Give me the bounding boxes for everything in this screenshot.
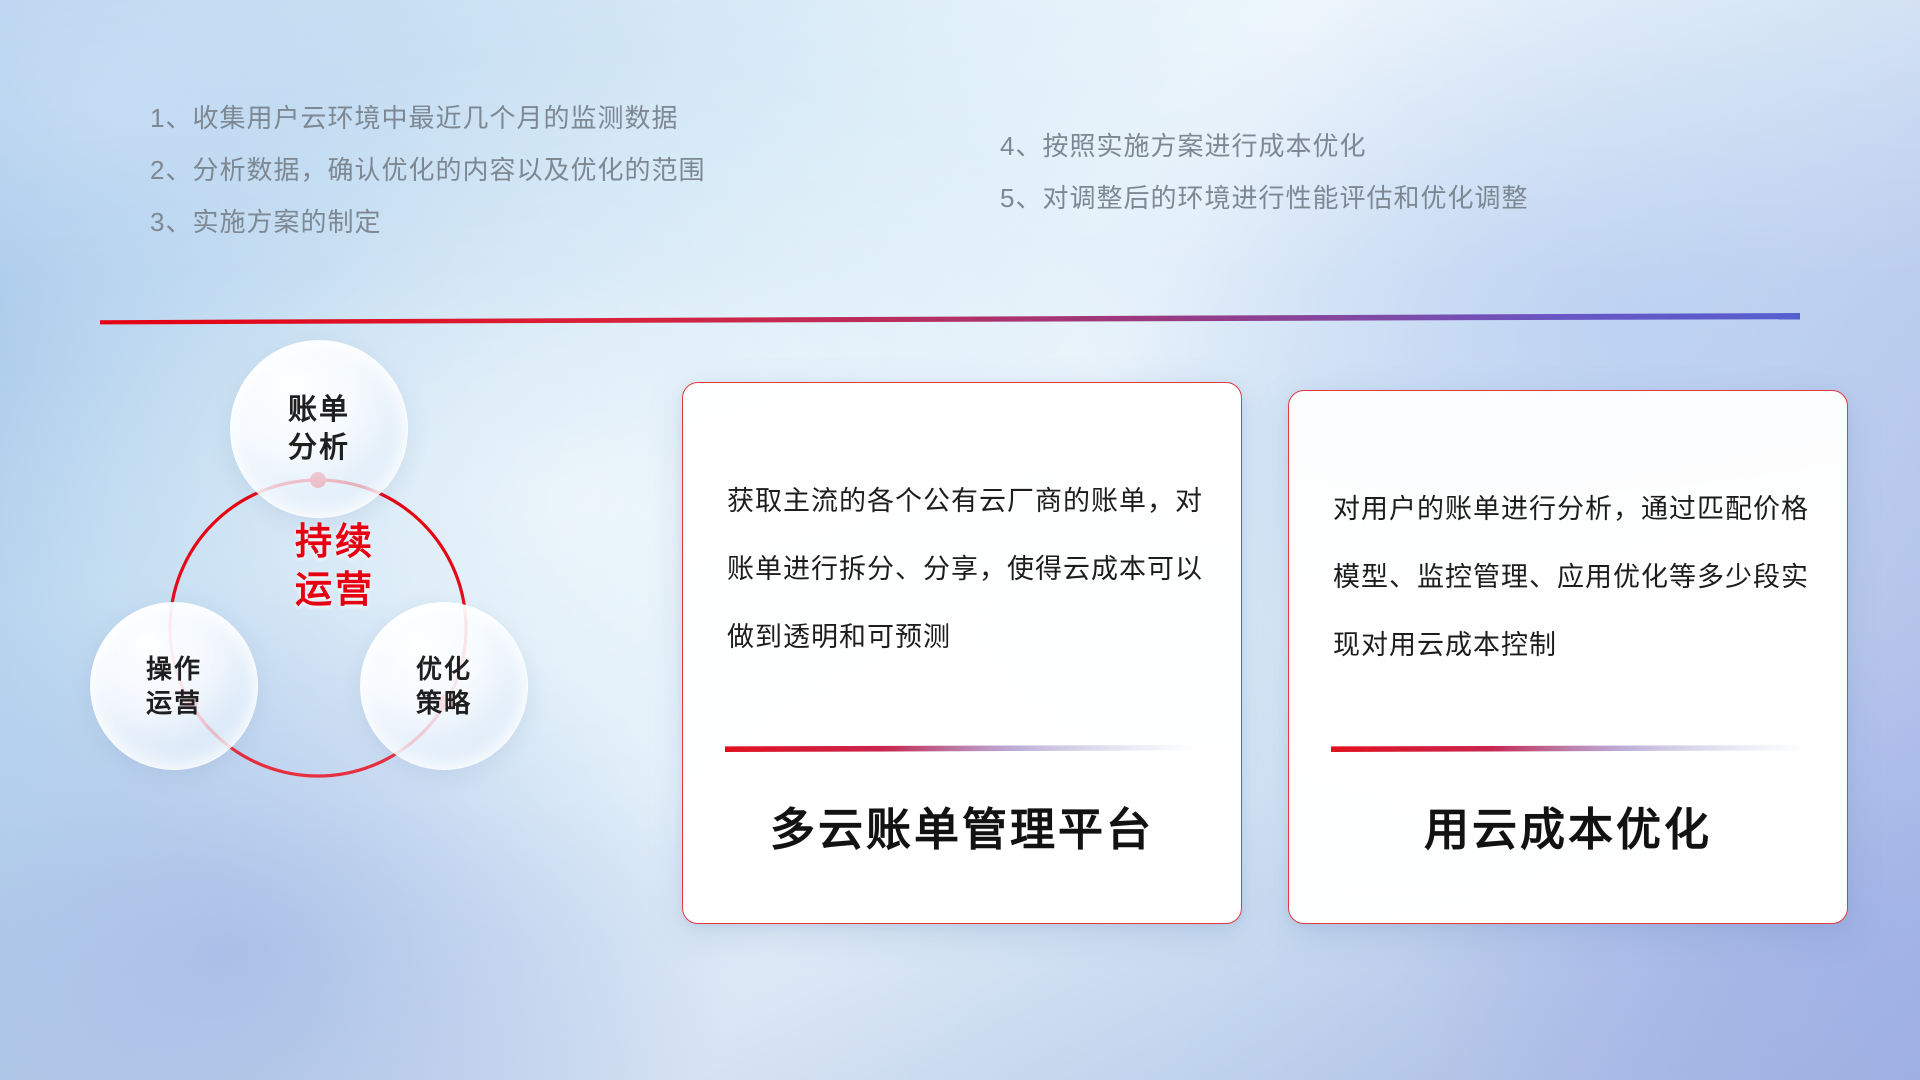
step-item-1: 1、收集用户云环境中最近几个月的监测数据 <box>150 92 705 144</box>
steps-list: 1、收集用户云环境中最近几个月的监测数据 2、分析数据，确认优化的内容以及优化的… <box>0 0 1920 270</box>
card2-title: 用云成本优化 <box>1289 793 1847 858</box>
card-cloud-cost-optimization[interactable]: 对用户的账单进行分析，通过匹配价格模型、监控管理、应用优化等多少段实现对用云成本… <box>1288 390 1848 924</box>
card1-body-text: 获取主流的各个公有云厂商的账单，对账单进行拆分、分享，使得云成本可以做到透明和可… <box>727 467 1203 671</box>
venn-node-optimize-policy[interactable]: 优化 策略 <box>360 602 528 770</box>
card2-accent-rule <box>1331 739 1805 746</box>
card1-accent-rule <box>725 739 1199 746</box>
venn-center-line2: 运营 <box>295 569 375 610</box>
continuous-operation-diagram: 账单 分析 操作 运营 优化 策略 持续 运营 <box>90 340 570 880</box>
venn-node-billing-analysis-label: 账单 分析 <box>288 391 350 468</box>
divider-line-icon <box>100 313 1800 325</box>
step-item-2: 2、分析数据，确认优化的内容以及优化的范围 <box>150 144 705 196</box>
venn-node-billing-analysis[interactable]: 账单 分析 <box>230 340 408 518</box>
venn-node-operation-ops-label: 操作 运营 <box>146 652 202 721</box>
steps-column-right: 4、按照实施方案进行成本优化 5、对调整后的环境进行性能评估和优化调整 <box>1000 120 1528 224</box>
steps-column-left: 1、收集用户云环境中最近几个月的监测数据 2、分析数据，确认优化的内容以及优化的… <box>150 92 705 248</box>
venn-label-line1: 账单 <box>288 394 350 426</box>
venn-center-line1: 持续 <box>295 521 375 562</box>
venn-node-operation-ops[interactable]: 操作 运营 <box>90 602 258 770</box>
card2-rule-icon <box>1331 745 1805 752</box>
venn-label-line2: 策略 <box>416 688 472 718</box>
venn-label-line2: 分析 <box>288 432 350 464</box>
card-multi-cloud-billing-platform[interactable]: 获取主流的各个公有云厂商的账单，对账单进行拆分、分享，使得云成本可以做到透明和可… <box>682 382 1242 924</box>
venn-label-line1: 操作 <box>146 654 202 684</box>
step-item-3: 3、实施方案的制定 <box>150 196 705 248</box>
venn-node-optimize-policy-label: 优化 策略 <box>416 652 472 721</box>
step-item-5: 5、对调整后的环境进行性能评估和优化调整 <box>1000 172 1528 224</box>
venn-label-line2: 运营 <box>146 688 202 718</box>
card1-rule-icon <box>725 745 1199 752</box>
step-item-4: 4、按照实施方案进行成本优化 <box>1000 120 1528 172</box>
card2-body-text: 对用户的账单进行分析，通过匹配价格模型、监控管理、应用优化等多少段实现对用云成本… <box>1333 475 1809 679</box>
card1-title: 多云账单管理平台 <box>683 793 1241 858</box>
section-divider <box>100 312 1800 324</box>
venn-center-label: 持续 运营 <box>240 518 430 614</box>
venn-label-line1: 优化 <box>416 654 472 684</box>
